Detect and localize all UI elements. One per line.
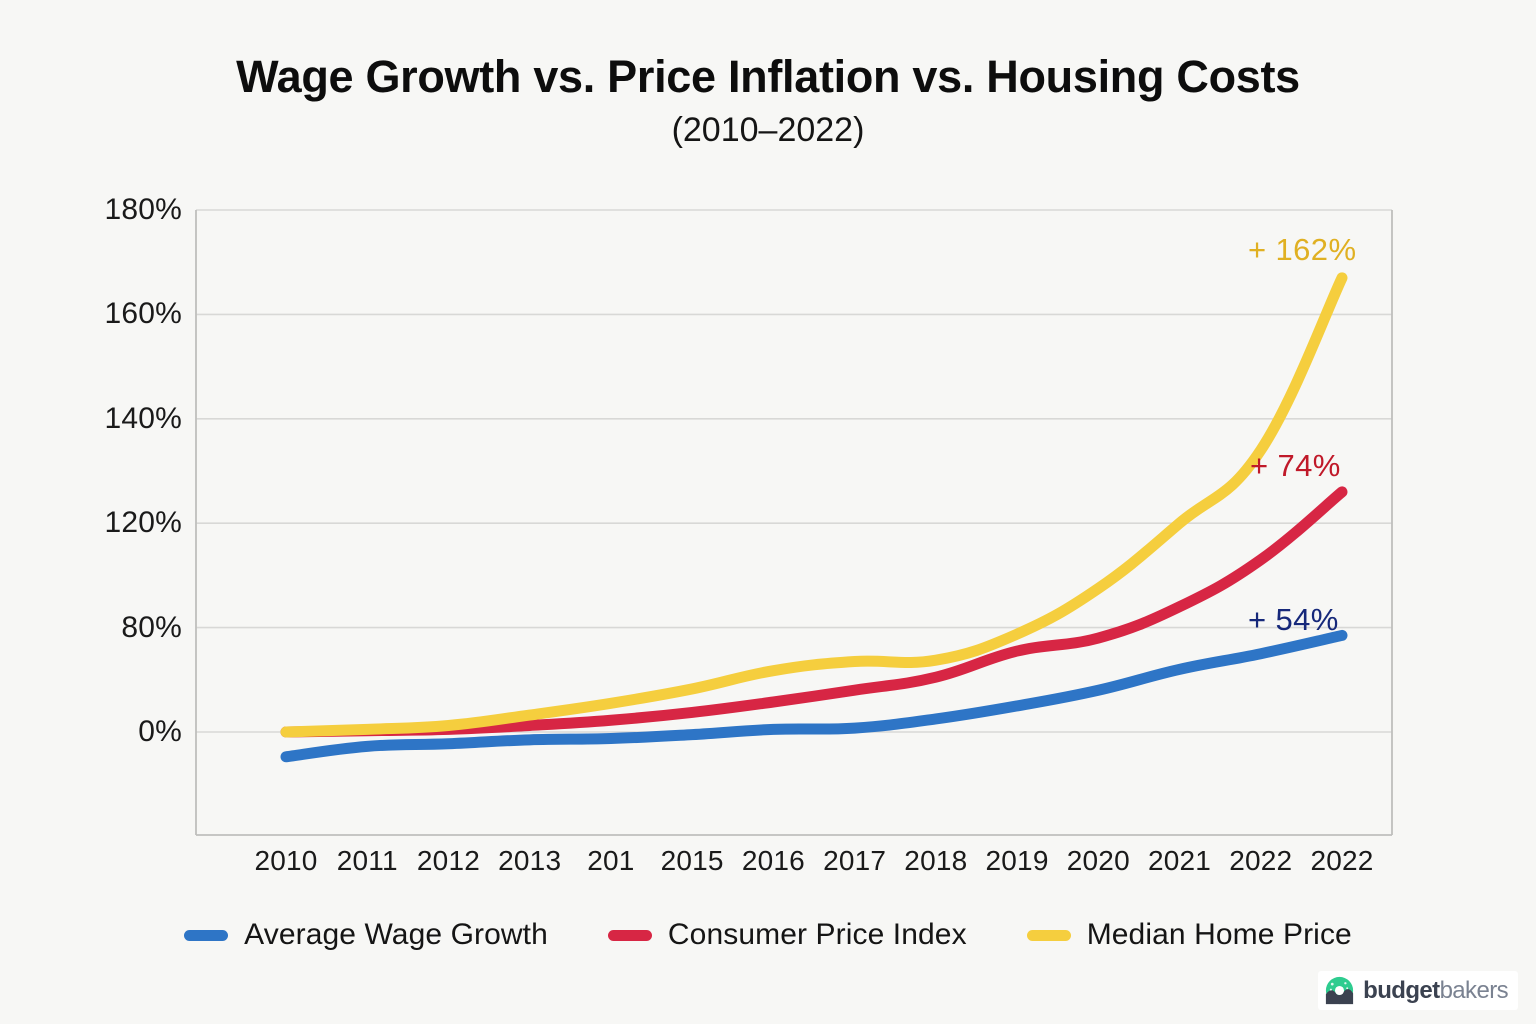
annotation-average-wage-growth: + 54% <box>1248 602 1339 638</box>
x-axis-tick-label: 2022 <box>1310 845 1373 877</box>
x-axis-tick-label: 2017 <box>823 845 886 877</box>
watermark-budgetbakers: budgetbakers <box>1318 971 1518 1010</box>
budgetbakers-logo-icon <box>1325 976 1354 1005</box>
legend-item-label: Average Wage Growth <box>244 918 548 952</box>
legend-item-label: Median Home Price <box>1087 918 1352 952</box>
legend-item[interactable]: Average Wage Growth <box>184 918 548 952</box>
x-axis-tick-label: 2013 <box>498 845 561 877</box>
chart-plot-area: 180%160%140%120%80%0% 201020112012201320… <box>0 0 1536 1024</box>
x-axis-tick-label: 201 <box>587 845 634 877</box>
chart-legend: Average Wage GrowthConsumer Price IndexM… <box>0 918 1536 952</box>
x-axis-tick-label: 2021 <box>1148 845 1211 877</box>
watermark-brand-bold: budget <box>1363 977 1439 1004</box>
x-axis-tick-label: 2019 <box>986 845 1049 877</box>
legend-item[interactable]: Median Home Price <box>1027 918 1352 952</box>
legend-color-swatch <box>184 930 228 941</box>
x-axis-tick-label: 2022 <box>1229 845 1292 877</box>
watermark-text: budgetbakers <box>1363 977 1508 1005</box>
x-axis-tick-label: 2020 <box>1067 845 1130 877</box>
x-axis-tick-label: 2015 <box>661 845 724 877</box>
watermark-brand-light: bakers <box>1440 977 1508 1004</box>
x-axis-tick-label: 2018 <box>904 845 967 877</box>
legend-color-swatch <box>608 930 652 941</box>
legend-item[interactable]: Consumer Price Index <box>608 918 967 952</box>
legend-item-label: Consumer Price Index <box>668 918 967 952</box>
legend-color-swatch <box>1027 930 1071 941</box>
x-axis-tick-labels: 2010201120122013201201520162017201820192… <box>0 0 1536 1024</box>
x-axis-tick-label: 2011 <box>337 845 398 877</box>
x-axis-tick-label: 2012 <box>417 845 480 877</box>
x-axis-tick-label: 2010 <box>254 845 317 877</box>
x-axis-tick-label: 2016 <box>742 845 805 877</box>
annotation-consumer-price-index: + 74% <box>1250 448 1341 484</box>
annotation-median-home-price: + 162% <box>1248 232 1356 268</box>
